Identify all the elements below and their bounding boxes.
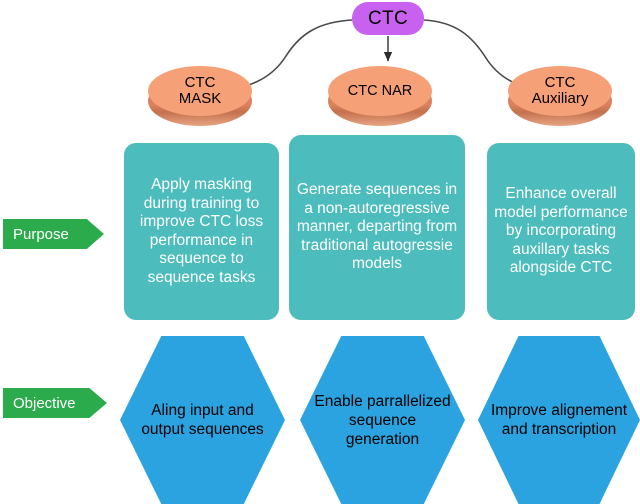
purpose-card-text: Generate sequences in a non-autoregressi… <box>295 181 459 274</box>
branch-node-ctc-mask[interactable]: CTC MASK <box>148 66 252 132</box>
cylinder-top: CTC NAR <box>328 66 432 116</box>
purpose-card-text: Apply masking during training to improve… <box>130 176 273 287</box>
objective-hexagon-text: Enable parrallelized sequence generation <box>312 392 453 449</box>
row-label-text: Purpose <box>13 226 69 243</box>
branch-node-label: CTC Auxiliary <box>532 75 589 107</box>
branch-node-label: CTC NAR <box>348 83 412 99</box>
row-label-objective: Objective <box>3 388 107 418</box>
objective-hexagon-ctc-mask: Aling input and output sequences <box>120 336 285 504</box>
purpose-card-ctc-auxiliary: Enhance overall model performance by inc… <box>487 143 635 320</box>
root-node-label: CTC <box>368 8 408 30</box>
branch-node-label: CTC MASK <box>179 75 222 107</box>
diagram-canvas: CTC CTC MASK CTC NAR CTC Auxiliary Apply… <box>0 0 640 476</box>
purpose-card-text: Enhance overall model performance by inc… <box>493 185 629 278</box>
cylinder-top: CTC Auxiliary <box>508 66 612 116</box>
branch-node-ctc-nar[interactable]: CTC NAR <box>328 66 432 132</box>
objective-hexagon-text: Improve alignement and transcription <box>490 401 628 439</box>
objective-hexagon-text: Aling input and output sequences <box>132 401 273 439</box>
purpose-card-ctc-nar: Generate sequences in a non-autoregressi… <box>289 135 465 320</box>
purpose-card-ctc-mask: Apply masking during training to improve… <box>124 143 279 320</box>
root-node-ctc[interactable]: CTC <box>352 2 424 35</box>
row-label-purpose: Purpose <box>3 219 104 249</box>
cylinder-top: CTC MASK <box>148 66 252 116</box>
objective-hexagon-ctc-nar: Enable parrallelized sequence generation <box>300 336 465 504</box>
objective-hexagon-ctc-auxiliary: Improve alignement and transcription <box>478 336 640 504</box>
branch-node-ctc-auxiliary[interactable]: CTC Auxiliary <box>508 66 612 132</box>
row-label-text: Objective <box>13 395 76 412</box>
